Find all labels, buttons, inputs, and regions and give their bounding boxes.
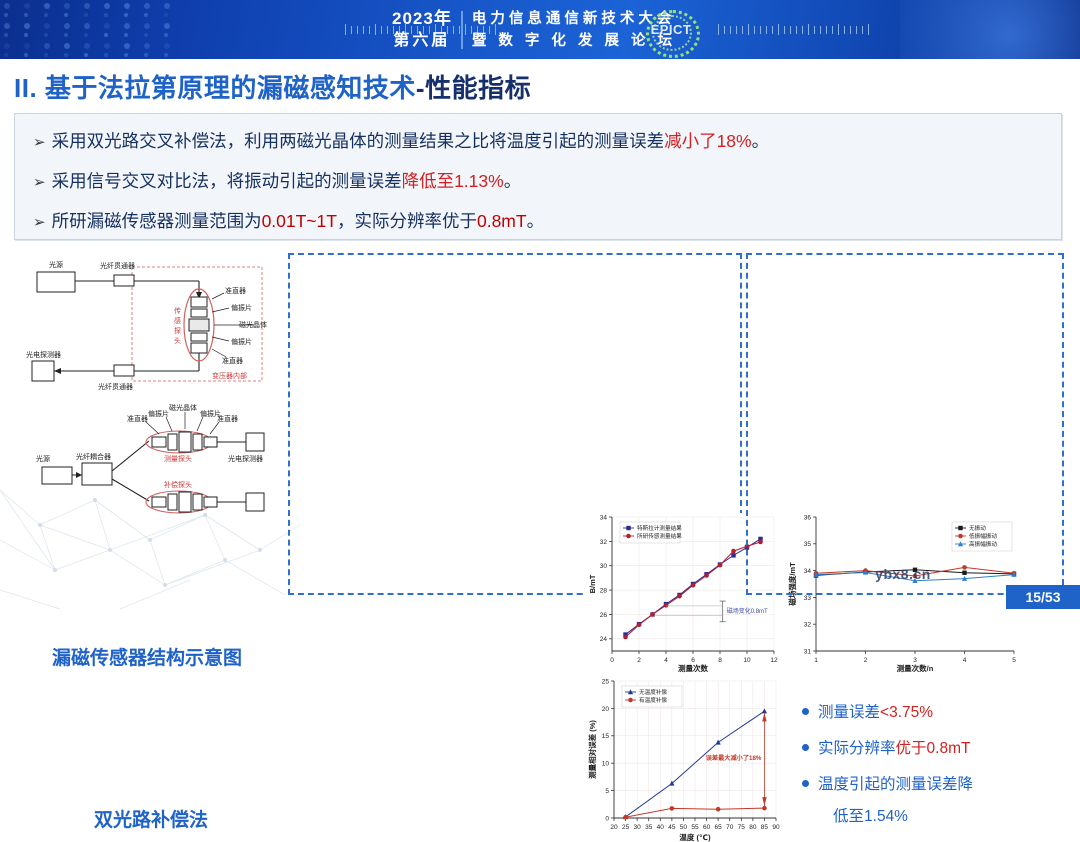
result-bullet-2: 实际分辨率优于0.8mT: [802, 736, 970, 758]
svg-text:有温度补偿: 有温度补偿: [639, 696, 667, 704]
svg-text:34: 34: [600, 514, 608, 521]
dual-path-compensation-diagram: 光源 光纤耦合器 准直器 偏振片 磁光晶体 偏振片 准直器 测量探头 补偿探头 …: [14, 401, 282, 531]
svg-text:60: 60: [703, 824, 711, 831]
bullet-marker-icon: ➢: [33, 134, 46, 151]
label-polarizer-l: 偏振片: [148, 409, 169, 418]
summary-bullet-3: ➢所研漏磁传感器测量范围为0.01T~1T，实际分辨率优于0.8mT。: [33, 208, 544, 233]
svg-text:5: 5: [605, 788, 609, 795]
label-crystal-2: 磁光晶体: [169, 403, 197, 412]
banner-center-block: 2023年 第六届 电力信息通信新技术大会 暨 数 字 化 发 展 论 坛: [392, 5, 676, 54]
bullet-3-text: 所研漏磁传感器测量范围为: [52, 211, 262, 231]
chart-temp-error: 2025303540455055606570758085900510152025…: [586, 677, 786, 842]
bullet-dot-icon: [802, 708, 809, 715]
svg-text:20: 20: [602, 706, 610, 713]
svg-text:32: 32: [804, 622, 812, 629]
charts-panel: 024681012242628303234测量次数B/mT特斯拉计测量结果所研传…: [288, 253, 742, 595]
result-bullet-3-value: 1.54%: [864, 808, 908, 825]
bullet-2-highlight: 降低至1.13%: [402, 171, 504, 191]
svg-text:测量相对误差 (%): 测量相对误差 (%): [587, 720, 597, 779]
page-number: 15/53: [1006, 585, 1080, 609]
bullet-3-highlight: 0.01T~1T: [262, 211, 337, 231]
banner-year: 2023年: [392, 8, 452, 30]
svg-text:4: 4: [963, 657, 967, 664]
label-fiber-top: 光纤贯通器: [100, 261, 135, 270]
svg-text:5: 5: [1012, 657, 1016, 664]
label-polarizer-bottom: 偏振片: [231, 337, 252, 346]
bullet-1-post: 。: [752, 131, 770, 151]
label-probe: 传: [174, 306, 181, 315]
result-bullet-3: 温度引起的测量误差降: [802, 772, 973, 794]
svg-text:24: 24: [600, 636, 608, 643]
label-coupler: 光纤耦合器: [76, 452, 111, 461]
svg-text:80: 80: [749, 824, 757, 831]
svg-text:测量次数/n: 测量次数/n: [897, 663, 934, 673]
page-title: II. 基于法拉第原理的漏磁感知技术-性能指标: [14, 68, 531, 105]
label-light-source: 光源: [49, 260, 63, 269]
svg-text:10: 10: [743, 657, 751, 664]
bullet-2-text: 采用信号交叉对比法，将振动引起的测量误差: [52, 171, 402, 191]
svg-text:70: 70: [726, 824, 734, 831]
label-light-source-2: 光源: [36, 454, 50, 463]
label-fiber-bottom: 光纤贯通器: [98, 382, 133, 391]
bullet-3-post: 。: [527, 211, 545, 231]
result-bullet-1-value: <3.75%: [880, 704, 933, 721]
svg-text:2: 2: [864, 657, 868, 664]
svg-text:12: 12: [770, 657, 778, 664]
svg-text:4: 4: [664, 657, 668, 664]
svg-text:32: 32: [600, 539, 608, 546]
svg-text:2: 2: [637, 657, 641, 664]
bullet-dot-icon: [802, 744, 809, 751]
caption-sensor-structure: 漏磁传感器结构示意图: [52, 643, 242, 670]
bullet-1-text: 采用双光路交叉补偿法，利用两磁光晶体的测量结果之比将温度引起的测量误差: [52, 131, 665, 151]
summary-bullet-1: ➢采用双光路交叉补偿法，利用两磁光晶体的测量结果之比将温度引起的测量误差减小了1…: [33, 128, 769, 153]
result-bullet-3-cont: 低至1.54%: [833, 804, 908, 826]
summary-bullet-2: ➢采用信号交叉对比法，将振动引起的测量误差降低至1.13%。: [33, 168, 521, 193]
svg-text:31: 31: [804, 648, 812, 655]
result-bullet-2-text: 实际分辨率: [818, 740, 896, 757]
svg-text:探: 探: [174, 326, 181, 335]
svg-text:测量次数: 测量次数: [678, 663, 708, 673]
svg-text:40: 40: [657, 824, 665, 831]
logo-text: EPICT: [642, 22, 700, 37]
label-collimator-top: 准直器: [225, 286, 246, 295]
label-comp-probe: 补偿探头: [164, 480, 192, 489]
svg-text:10: 10: [602, 761, 610, 768]
bullet-marker-icon: ➢: [33, 214, 46, 231]
svg-text:65: 65: [715, 824, 723, 831]
svg-text:50: 50: [680, 824, 688, 831]
svg-text:25: 25: [602, 678, 610, 685]
conference-banner: 2023年 第六届 电力信息通信新技术大会 暨 数 字 化 发 展 论 坛 EP…: [0, 0, 1080, 59]
banner-glow: [900, 0, 1080, 59]
svg-text:温度 (℃): 温度 (℃): [679, 832, 711, 842]
svg-text:1: 1: [814, 657, 818, 664]
result-bullet-3-text2: 低至: [833, 808, 864, 825]
banner-tick-right: [718, 26, 868, 36]
bullet-3-highlight2: 0.8mT: [477, 211, 527, 231]
svg-text:磁场变化0.8mT: 磁场变化0.8mT: [727, 607, 768, 615]
label-photodetector: 光电探测器: [26, 350, 61, 359]
label-polarizer-top: 偏振片: [231, 303, 252, 312]
epict-logo: EPICT: [640, 8, 702, 54]
svg-text:35: 35: [645, 824, 653, 831]
svg-text:75: 75: [738, 824, 746, 831]
banner-edition: 2023年 第六届: [392, 8, 452, 52]
summary-box: ➢采用双光路交叉补偿法，利用两磁光晶体的测量结果之比将温度引起的测量误差减小了1…: [14, 113, 1062, 240]
label-measure-probe: 测量探头: [164, 454, 192, 463]
label-photodetector-2: 光电探测器: [228, 454, 263, 463]
svg-text:所研传感测量结果: 所研传感测量结果: [637, 532, 682, 540]
svg-text:8: 8: [718, 657, 722, 664]
result-bullet-1-text: 测量误差: [818, 704, 880, 721]
banner-divider: [461, 11, 463, 49]
svg-text:无温度补偿: 无温度补偿: [639, 688, 667, 696]
result-bullet-2-value: 优于0.8mT: [896, 740, 971, 757]
svg-text:90: 90: [772, 824, 780, 831]
svg-text:0: 0: [610, 657, 614, 664]
watermark: ybx8.cn: [746, 566, 1060, 582]
svg-text:30: 30: [600, 563, 608, 570]
label-crystal: 磁光晶体: [239, 320, 267, 329]
page-title-main: II. 基于法拉第原理的漏磁感知技术: [14, 73, 416, 103]
banner-dot-pattern: [0, 0, 250, 59]
banner-edition-no: 第六届: [392, 30, 452, 52]
result-bullet-3-text: 温度引起的测量误差降: [818, 776, 973, 793]
svg-text:B/mT: B/mT: [588, 574, 597, 593]
label-collimator-r: 准直器: [217, 414, 238, 423]
svg-text:特斯拉计测量结果: 特斯拉计测量结果: [637, 524, 682, 532]
svg-text:26: 26: [600, 612, 608, 619]
result-bullet-1: 测量误差<3.75%: [802, 700, 933, 722]
svg-text:33: 33: [804, 595, 812, 602]
svg-text:25: 25: [622, 824, 630, 831]
svg-text:20: 20: [610, 824, 618, 831]
svg-text:感: 感: [174, 316, 181, 325]
caption-dual-path: 双光路补偿法: [94, 805, 208, 832]
bullet-1-highlight: 减小了18%: [664, 131, 752, 151]
svg-text:15: 15: [602, 733, 610, 740]
sensor-structure-diagram: 光源 光纤贯通器 光纤贯通器 光电探测器 准直器 偏振片 磁光晶体 偏振片 准直…: [14, 253, 282, 393]
svg-text:6: 6: [691, 657, 695, 664]
bullet-dot-icon: [802, 780, 809, 787]
label-collimator-bottom: 准直器: [222, 356, 243, 365]
svg-text:28: 28: [600, 587, 608, 594]
label-transformer-inside: 变压器内部: [212, 371, 247, 380]
left-diagram-panel: 光源 光纤贯通器 光纤贯通器 光电探测器 准直器 偏振片 磁光晶体 偏振片 准直…: [14, 253, 282, 591]
svg-text:3: 3: [913, 657, 917, 664]
bullet-marker-icon: ➢: [33, 174, 46, 191]
page-title-sub: -性能指标: [416, 73, 531, 103]
bullet-3-mid: ，实际分辨率优于: [337, 211, 477, 231]
svg-text:55: 55: [691, 824, 699, 831]
certification-panel: 十 资 名称：不锈钢计 型号：主要材料 许可证：产 证书中的单元、 颁发日期、符…: [746, 253, 1064, 595]
bullet-2-post: 。: [504, 171, 522, 191]
svg-text:误差最大减小了18%: 误差最大减小了18%: [706, 754, 762, 762]
svg-text:0: 0: [605, 815, 609, 822]
svg-text:45: 45: [668, 824, 676, 831]
svg-text:头: 头: [174, 336, 181, 345]
svg-text:30: 30: [634, 824, 642, 831]
label-collimator-l: 准直器: [127, 414, 148, 423]
svg-text:85: 85: [761, 824, 769, 831]
